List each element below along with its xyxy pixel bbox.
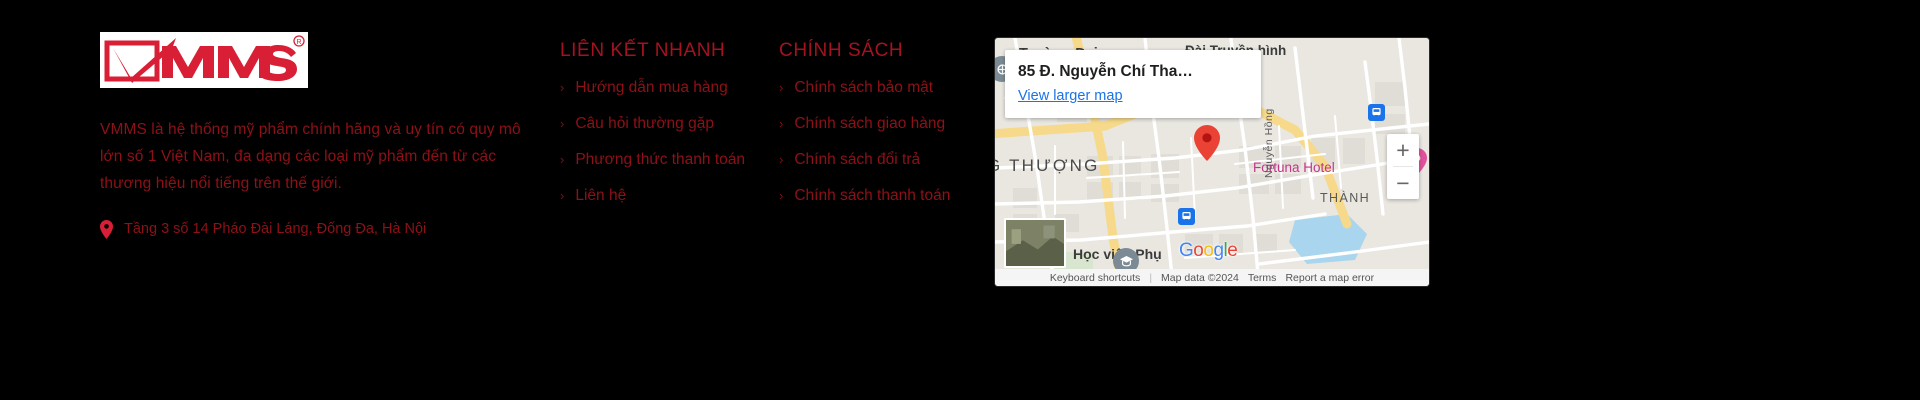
quick-link-item[interactable]: › Liên hệ: [560, 186, 760, 206]
view-larger-map-link[interactable]: View larger map: [1018, 87, 1248, 105]
brand-address: Tầng 3 số 14 Pháo Đài Láng, Đống Đa, Hà …: [100, 219, 545, 239]
quick-links-column: LIÊN KẾT NHANH › Hướng dẫn mua hàng › Câ…: [560, 40, 760, 206]
chevron-right-icon: ›: [560, 153, 564, 166]
policy-link-label: Chính sách đổi trả: [794, 150, 920, 170]
policy-link-item[interactable]: › Chính sách bảo mật: [779, 78, 979, 98]
policy-link-item[interactable]: › Chính sách giao hàng: [779, 114, 979, 134]
policy-link-label: Chính sách giao hàng: [794, 114, 945, 134]
chevron-right-icon: ›: [560, 117, 564, 130]
bus-stop-icon[interactable]: [1368, 104, 1385, 121]
quick-link-item[interactable]: › Hướng dẫn mua hàng: [560, 78, 760, 98]
quick-link-item[interactable]: › Phương thức thanh toán: [560, 150, 760, 170]
location-pin-icon: [100, 220, 113, 239]
footer-brand-column: R VMMS là hệ thống mỹ phẩm chính hãng và…: [100, 32, 545, 239]
brand-address-text: Tầng 3 số 14 Pháo Đài Láng, Đống Đa, Hà …: [124, 219, 426, 239]
google-logo-g2: g: [1213, 240, 1223, 261]
chevron-right-icon: ›: [779, 189, 783, 202]
google-logo: Google: [1179, 240, 1237, 262]
policy-link-label: Chính sách bảo mật: [794, 78, 933, 98]
map-attribution-bar: Keyboard shortcuts | Map data ©2024 Term…: [995, 269, 1429, 286]
policy-link-label: Chính sách thanh toán: [794, 186, 950, 206]
chevron-right-icon: ›: [779, 81, 783, 94]
map-data-label: Map data ©2024: [1161, 272, 1239, 284]
vmms-logo[interactable]: R: [100, 32, 308, 88]
chevron-right-icon: ›: [560, 81, 564, 94]
google-logo-o2: o: [1203, 240, 1213, 261]
zoom-out-button[interactable]: −: [1387, 167, 1419, 199]
map-zoom-controls[interactable]: + −: [1387, 134, 1419, 199]
map-card-title: 85 Đ. Nguyễn Chí Tha…: [1018, 62, 1248, 81]
map-label-g-thuong: G THƯỢNG: [995, 156, 1100, 176]
map-marker-icon[interactable]: [1194, 125, 1220, 161]
policy-links-column: CHÍNH SÁCH › Chính sách bảo mật › Chính …: [779, 40, 979, 206]
report-map-error-link[interactable]: Report a map error: [1285, 272, 1374, 284]
attribution-separator: |: [1149, 272, 1152, 284]
google-logo-g1: G: [1179, 240, 1193, 261]
quick-link-label: Phương thức thanh toán: [575, 150, 745, 170]
vmms-logo-mark: R: [100, 32, 308, 88]
map-info-card[interactable]: 85 Đ. Nguyễn Chí Tha… View larger map: [1005, 50, 1261, 118]
chevron-right-icon: ›: [560, 189, 564, 202]
quick-links-list: › Hướng dẫn mua hàng › Câu hỏi thường gặ…: [560, 78, 760, 206]
google-logo-e: e: [1227, 240, 1237, 261]
quick-link-label: Liên hệ: [575, 186, 626, 206]
map-canvas[interactable]: Trường Đại Đài Truyền hình - VTV G THƯỢN…: [995, 38, 1429, 286]
street-view-thumbnail[interactable]: [1004, 218, 1066, 268]
zoom-in-button[interactable]: +: [1387, 134, 1419, 166]
keyboard-shortcuts-label[interactable]: Keyboard shortcuts: [1050, 272, 1140, 284]
policy-links-title: CHÍNH SÁCH: [779, 40, 979, 62]
site-footer: R VMMS là hệ thống mỹ phẩm chính hãng và…: [0, 0, 1920, 400]
quick-link-label: Hướng dẫn mua hàng: [575, 78, 727, 98]
map-label-nguyen-hong: Nguyễn Hồng: [1263, 108, 1275, 178]
brand-description: VMMS là hệ thống mỹ phẩm chính hãng và u…: [100, 116, 540, 197]
google-map-embed[interactable]: Trường Đại Đài Truyền hình - VTV G THƯỢN…: [995, 38, 1429, 286]
policy-link-item[interactable]: › Chính sách đổi trả: [779, 150, 979, 170]
svg-text:R: R: [296, 39, 301, 46]
quick-link-item[interactable]: › Câu hỏi thường gặp: [560, 114, 760, 134]
chevron-right-icon: ›: [779, 117, 783, 130]
terms-link[interactable]: Terms: [1248, 272, 1277, 284]
policy-link-item[interactable]: › Chính sách thanh toán: [779, 186, 979, 206]
chevron-right-icon: ›: [779, 153, 783, 166]
quick-links-title: LIÊN KẾT NHANH: [560, 40, 760, 62]
policy-links-list: › Chính sách bảo mật › Chính sách giao h…: [779, 78, 979, 206]
google-logo-o1: o: [1193, 240, 1203, 261]
bus-stop-icon[interactable]: [1178, 208, 1195, 225]
map-label-thanh: THÀNH: [1320, 191, 1370, 205]
quick-link-label: Câu hỏi thường gặp: [575, 114, 714, 134]
